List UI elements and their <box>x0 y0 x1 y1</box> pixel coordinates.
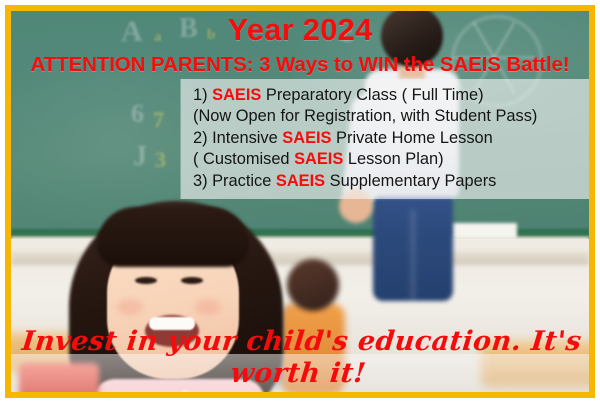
offer-line: ( Customised SAEIS Lesson Plan) <box>193 149 589 170</box>
saeis-highlight: SAEIS <box>282 129 331 147</box>
classroom-scene: ABab67J3cd <box>11 11 589 392</box>
poster-frame: ABab67J3cd <box>5 5 595 398</box>
girl-eye <box>181 277 203 284</box>
girl-eye <box>135 277 157 284</box>
girl-cheek <box>195 299 221 315</box>
saeis-highlight: SAEIS <box>212 86 261 104</box>
teacher-jeans <box>373 189 453 301</box>
chalk-glyph: 6 <box>131 99 144 129</box>
offer-list-panel: 1) SAEIS Preparatory Class ( Full Time)(… <box>181 79 589 199</box>
girl-cheek <box>117 299 143 315</box>
offer-rows: 1) SAEIS Preparatory Class ( Full Time)(… <box>193 85 589 192</box>
poster-root: ABab67J3cd <box>0 0 600 403</box>
page-title-year: Year 2024 <box>11 13 589 47</box>
chalk-glyph: 7 <box>153 107 164 133</box>
background-student-head <box>287 259 339 311</box>
offer-line: 3) Practice SAEIS Supplementary Papers <box>193 171 589 192</box>
saeis-highlight: SAEIS <box>276 172 325 190</box>
offer-line: (Now Open for Registration, with Student… <box>193 106 589 127</box>
saeis-highlight: SAEIS <box>294 150 343 168</box>
chalk-glyph: 3 <box>155 147 166 173</box>
offer-line: 2) Intensive SAEIS Private Home Lesson <box>193 128 589 149</box>
tagline-text: Invest in your child's education. It's w… <box>11 326 589 390</box>
headline-zone: Year 2024 ATTENTION PARENTS: 3 Ways to W… <box>11 11 589 83</box>
offer-line: 1) SAEIS Preparatory Class ( Full Time) <box>193 85 589 106</box>
wall-notice-board <box>451 223 517 239</box>
attention-headline: ATTENTION PARENTS: 3 Ways to WIN the SAE… <box>11 53 589 77</box>
tagline-strip: Invest in your child's education. It's w… <box>11 354 589 392</box>
girl-bangs <box>97 207 249 267</box>
chalk-glyph: J <box>133 141 147 173</box>
